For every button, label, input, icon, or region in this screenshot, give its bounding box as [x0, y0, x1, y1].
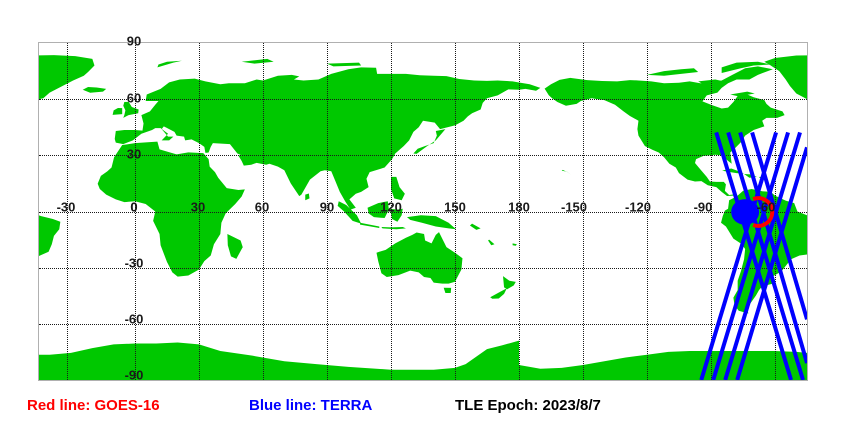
- lat-tick-30: 30: [127, 148, 141, 161]
- lon-tick-180: 180: [508, 201, 530, 214]
- legend-blue-line-terra: Blue line: TERRA: [249, 396, 372, 416]
- satellite-ground-track-page: { "chart_data": { "type": "map", "title"…: [0, 0, 850, 425]
- lat-tick--60: -60: [125, 313, 144, 326]
- legend-red-line-goes16: Red line: GOES-16: [27, 396, 160, 416]
- lon-tick--120: -120: [625, 201, 651, 214]
- lat-tick--90: -90: [125, 369, 144, 382]
- lon-tick--150: -150: [561, 201, 587, 214]
- map-legend: Red line: GOES-16 Blue line: TERRA TLE E…: [0, 396, 850, 422]
- lat-tick-60: 60: [127, 92, 141, 105]
- lat-tick-90: 90: [127, 35, 141, 48]
- world-landmass-map: [39, 43, 807, 380]
- lon-tick--90: -90: [694, 201, 713, 214]
- lon-tick--60: -60: [757, 201, 776, 214]
- lon-tick-90: 90: [320, 201, 334, 214]
- lon-tick-60: 60: [255, 201, 269, 214]
- world-map-plot: [38, 42, 808, 381]
- lon-tick-120: 120: [380, 201, 402, 214]
- lat-tick-0: 0: [130, 201, 137, 214]
- legend-tle-epoch: TLE Epoch: 2023/8/7: [455, 396, 601, 416]
- lat-tick--30: -30: [125, 257, 144, 270]
- lon-tick-30: 30: [191, 201, 205, 214]
- lon-tick--30: -30: [57, 201, 76, 214]
- lon-tick-150: 150: [444, 201, 466, 214]
